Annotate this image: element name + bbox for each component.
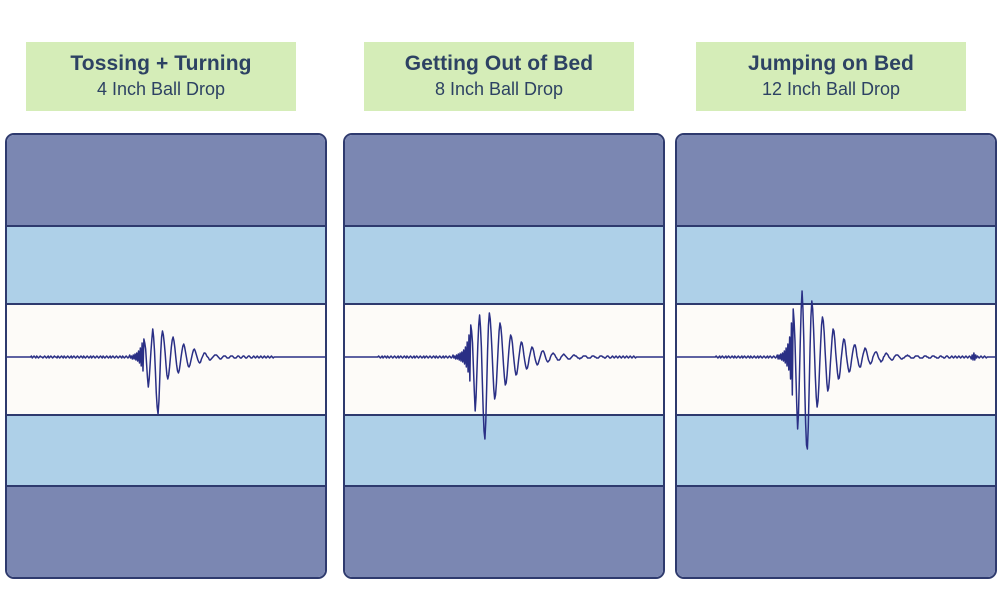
- mattress-panel-1: [5, 133, 327, 579]
- figure-root: Tossing + Turning 4 Inch Ball Drop Getti…: [0, 0, 1000, 607]
- caption-title-3: Jumping on Bed: [700, 50, 962, 77]
- mattress-layer-upper-2: [345, 227, 663, 305]
- mattress-layer-top-3: [677, 135, 995, 227]
- mattress-panel-3: [675, 133, 997, 579]
- caption-subtitle-1: 4 Inch Ball Drop: [30, 77, 292, 101]
- mattress-layer-base-1: [7, 487, 325, 577]
- caption-card-1: Tossing + Turning 4 Inch Ball Drop: [26, 42, 296, 111]
- mattress-layer-lower-3: [677, 414, 995, 487]
- caption-subtitle-2: 8 Inch Ball Drop: [368, 77, 630, 101]
- caption-card-3: Jumping on Bed 12 Inch Ball Drop: [696, 42, 966, 111]
- mattress-layer-core-2: [345, 305, 663, 414]
- caption-subtitle-3: 12 Inch Ball Drop: [700, 77, 962, 101]
- caption-title-2: Getting Out of Bed: [368, 50, 630, 77]
- mattress-layer-lower-1: [7, 414, 325, 487]
- mattress-layer-base-3: [677, 487, 995, 577]
- mattress-layer-top-2: [345, 135, 663, 227]
- caption-title-1: Tossing + Turning: [30, 50, 292, 77]
- mattress-layer-base-2: [345, 487, 663, 577]
- mattress-layer-core-3: [677, 305, 995, 414]
- panel-jumping-on-bed: Jumping on Bed 12 Inch Ball Drop: [670, 0, 995, 607]
- panel-tossing-turning: Tossing + Turning 4 Inch Ball Drop: [0, 0, 325, 607]
- mattress-layer-core-1: [7, 305, 325, 414]
- mattress-layer-lower-2: [345, 414, 663, 487]
- caption-card-2: Getting Out of Bed 8 Inch Ball Drop: [364, 42, 634, 111]
- mattress-layer-upper-3: [677, 227, 995, 305]
- mattress-panel-2: [343, 133, 665, 579]
- panel-getting-out-of-bed: Getting Out of Bed 8 Inch Ball Drop: [338, 0, 663, 607]
- mattress-layer-upper-1: [7, 227, 325, 305]
- mattress-layer-top-1: [7, 135, 325, 227]
